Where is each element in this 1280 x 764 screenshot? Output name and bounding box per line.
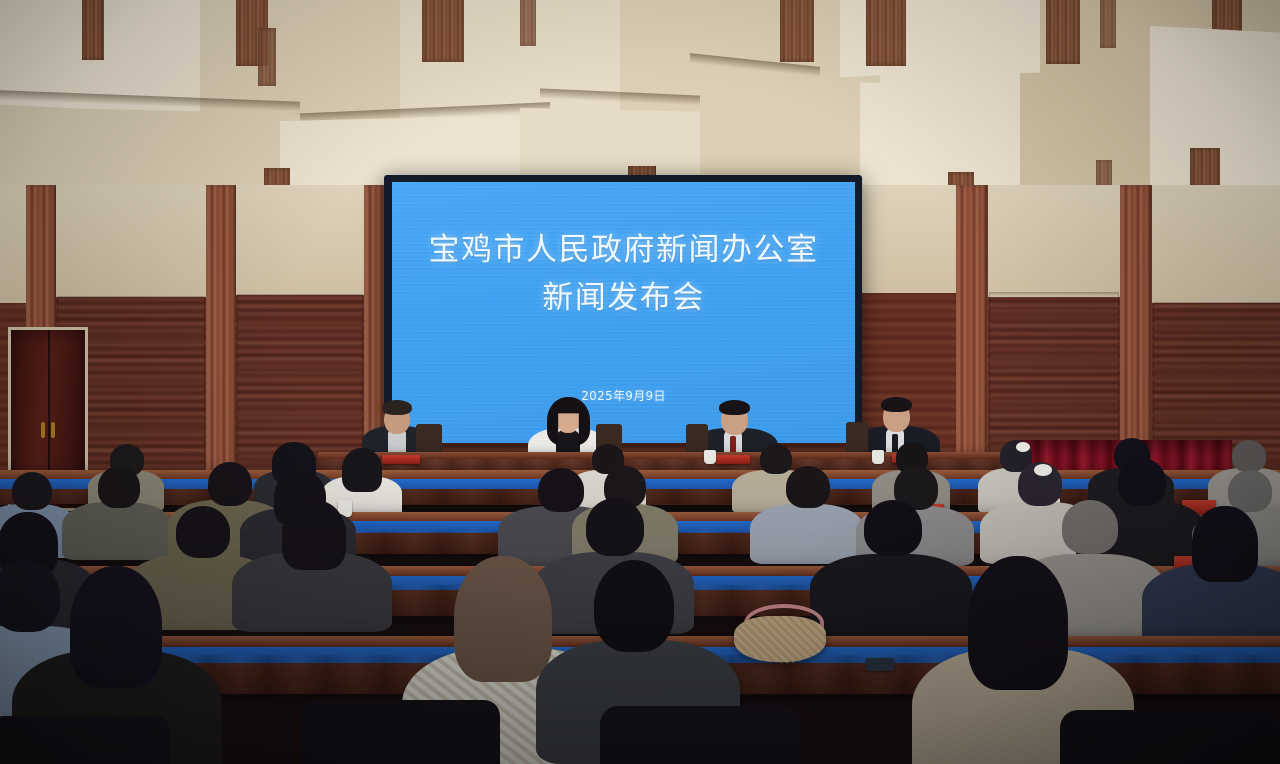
panelist-hair (719, 400, 750, 415)
person-hair (454, 556, 552, 682)
door-handle-icon[interactable] (51, 422, 55, 438)
led-display: 宝鸡市人民政府新闻办公室 新闻发布会 2025年9月9日 (392, 182, 855, 443)
person-hair (98, 466, 140, 508)
person-hair (1192, 506, 1258, 582)
ceiling-wood-strip (258, 28, 276, 86)
ceiling-wood-strip (780, 0, 814, 62)
ceiling (0, 0, 1280, 200)
person-hair (12, 472, 52, 510)
person-hair (594, 560, 674, 652)
person-hair (70, 566, 162, 688)
person-hair (1062, 500, 1118, 554)
ceiling-wood-strip (866, 0, 906, 66)
chair-back (300, 700, 500, 764)
wall-beige-section (860, 185, 956, 293)
panel-chair (846, 422, 868, 456)
ceiling-wood-strip (422, 0, 464, 62)
audience-person (1164, 506, 1280, 636)
hair-clip (1034, 464, 1052, 476)
audience-person (258, 500, 368, 620)
person-hair (208, 462, 252, 506)
ceiling-wood-strip (1100, 0, 1116, 48)
ceiling-wood-strip (1046, 0, 1080, 64)
panelist-hair (881, 397, 912, 412)
person-hair (1118, 458, 1166, 506)
panelist-hair (382, 400, 412, 415)
wall-beige-section (988, 185, 1120, 297)
audience-person (836, 500, 948, 624)
person-hair (176, 506, 230, 558)
wall-beige-section (56, 185, 206, 297)
chair-back (600, 706, 800, 764)
wall-beige-section (0, 185, 26, 303)
press-conference-photo: 宝鸡市人民政府新闻办公室 新闻发布会 2025年9月9日 (0, 0, 1280, 764)
person-hair (342, 448, 382, 492)
person-hair (968, 556, 1068, 690)
person-hair (1232, 440, 1266, 472)
person-hair (864, 500, 922, 556)
ceiling-wood-strip (82, 0, 104, 60)
person-hair (586, 498, 644, 556)
audience-person (78, 466, 158, 548)
person-hair (786, 466, 830, 508)
ceiling-wood-strip (520, 0, 536, 46)
person-hair (282, 500, 346, 570)
wall-pilaster (206, 185, 236, 505)
paper-cup (704, 450, 716, 464)
smartphone (866, 658, 894, 671)
slide-title-line-1: 宝鸡市人民政府新闻办公室 (429, 230, 819, 272)
handbag (734, 616, 826, 662)
hair-clip (1016, 442, 1030, 452)
slide-title-line-2: 新闻发布会 (542, 278, 705, 320)
wall-beige-section (1152, 185, 1280, 303)
chair-back (1060, 710, 1280, 764)
chair-back (0, 716, 170, 764)
door-handle-icon[interactable] (41, 422, 45, 438)
led-display-bezel: 宝鸡市人民政府新闻办公室 新闻发布会 2025年9月9日 (384, 175, 862, 443)
slide-date: 2025年9月9日 (392, 387, 855, 404)
